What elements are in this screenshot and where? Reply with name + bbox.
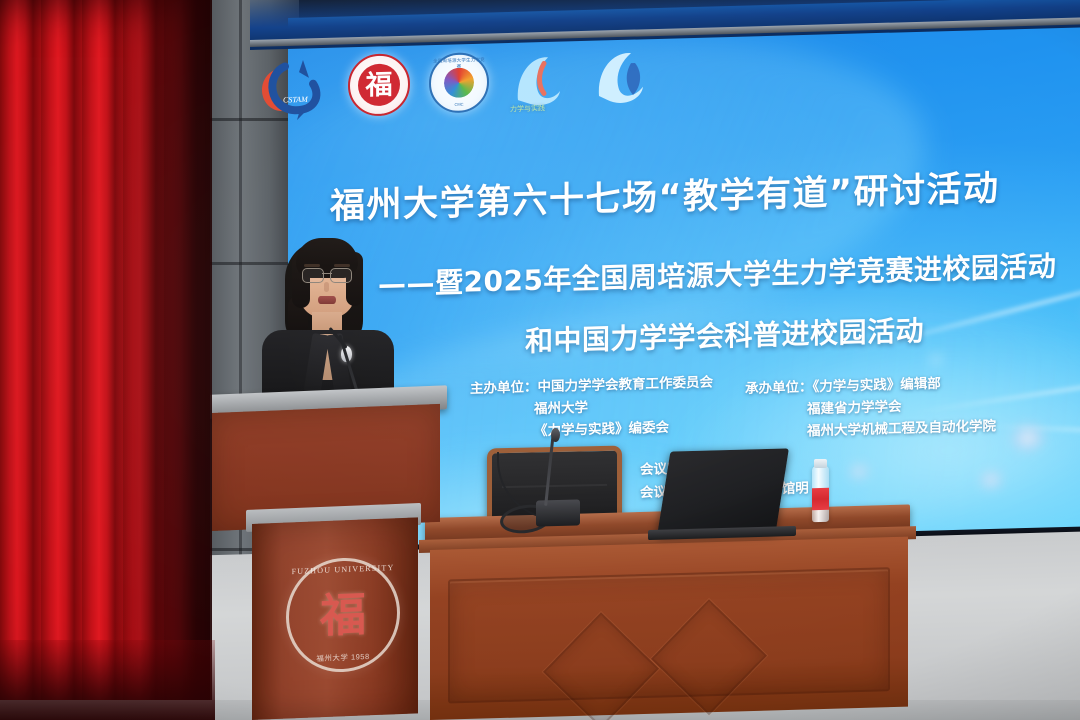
laptop-screen[interactable] [657,448,789,535]
microphone-base [536,499,580,526]
logo-row: CSTAM 福 全国周培源大学生力学竞赛 CMC 力学与实践 [255,39,645,128]
fuzhou-university-seal-logo: 福 [348,53,410,117]
speaker-mouth [318,296,336,304]
conference-table-front [430,537,908,720]
emblem-sub-text: CMC [431,101,487,108]
water-bottle-cap [814,459,827,468]
speaker-nose [324,282,329,292]
fuzhou-university-podium-seal: FUZHOU UNIVERSITY 福 福州大学 1958 [286,556,400,675]
table-front-panel [448,567,890,703]
podium-seal-character: 福 [320,591,366,639]
glasses-lens-right [330,268,352,283]
glasses-lens-left [302,268,324,283]
microphone-head-icon [551,428,560,442]
cstam-logo: CSTAM [255,51,329,123]
mechanics-wave-logo-2 [591,47,653,111]
conference-photo-scene: CSTAM 福 全国周培源大学生力学竞赛 CMC 力学与实践 福州大学第六十七场 [0,0,1080,720]
speaker-eyebrow-right [334,264,350,267]
fzu-seal-character: 福 [358,63,400,106]
co-organizer-block: 承办单位：《力学与实践》编辑部 福建省力学学会 福州大学机械工程及自动化学院 [745,371,996,444]
mechanics-wave-logo-1-caption: 力学与实践 [510,103,545,114]
speaker-glasses [302,268,352,281]
curtain-hem [0,640,215,720]
mechanics-wave-logo-1: 力学与实践 [508,49,572,113]
host-organizer-block: 主办单位：中国力学学会教育工作委员会 福州大学 《力学与实践》编委会 [470,371,713,444]
speaker-eyebrow-left [304,264,320,267]
emblem-graphic-icon [444,67,474,98]
table-diamond-carving-2 [651,599,767,715]
water-bottle-label [812,488,829,510]
table-diamond-carving-1 [543,612,659,720]
competition-emblem-logo: 全国周培源大学生力学竞赛 CMC [429,52,489,114]
curtain-shadow [116,0,212,700]
cstam-logo-caption: CSTAM [283,95,309,105]
